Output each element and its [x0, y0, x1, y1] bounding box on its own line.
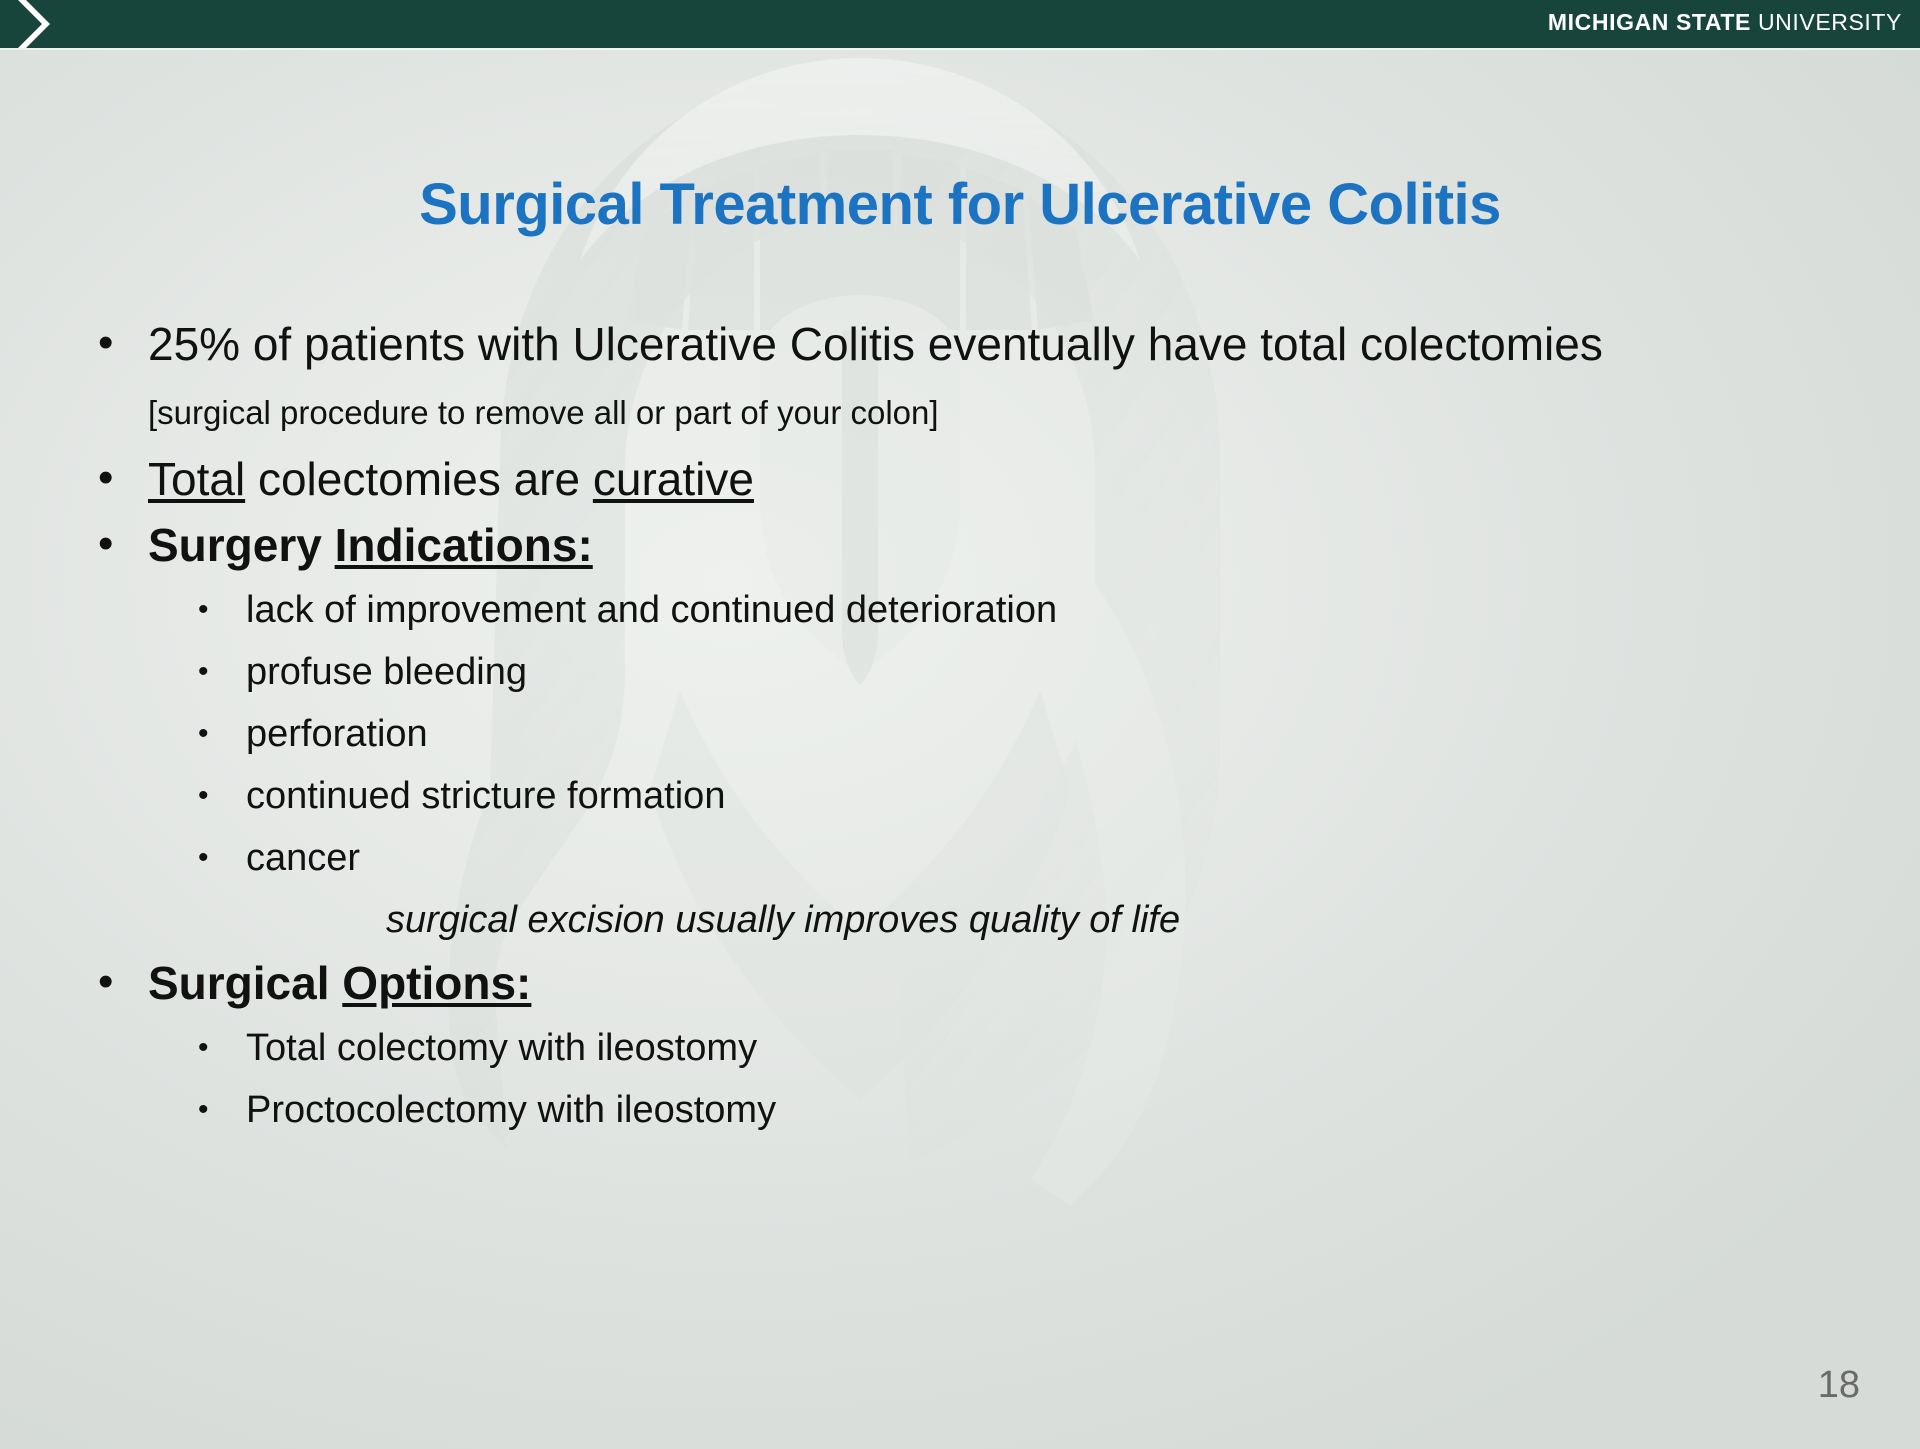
bullet-glyph-icon: • — [86, 951, 148, 1013]
bullet-text: 25% of patients with Ulcerative Colitis … — [148, 312, 1738, 445]
list-item: • lack of improvement and continued dete… — [182, 579, 1846, 641]
bullet-item-surgical-options: • Surgical Options: — [86, 951, 1846, 1015]
slide-canvas: MICHIGAN STATE UNIVERSITY Surgical Treat… — [0, 0, 1920, 1449]
bullet-text-underlined-curative: curative — [593, 453, 754, 505]
bullet-text: Surgery Indications: — [148, 513, 593, 577]
bullet-glyph-icon: • — [86, 312, 148, 374]
heading-surgical: Surgical — [148, 957, 342, 1009]
list-item: • perforation — [182, 703, 1846, 765]
italic-note: surgical excision usually improves quali… — [386, 889, 1846, 951]
bullet-text-aside: [surgical procedure to remove all or par… — [148, 394, 939, 431]
msu-wordmark-bold: MICHIGAN STATE — [1548, 9, 1751, 35]
list-item-label: Total colectomy with ileostomy — [246, 1017, 757, 1079]
list-item-label: continued stricture formation — [246, 765, 725, 827]
bullet-glyph-icon: • — [182, 641, 246, 703]
page-title: Surgical Treatment for Ulcerative Coliti… — [0, 172, 1920, 238]
heading-indications-underlined: Indications: — [335, 519, 593, 571]
bullet-text: Surgical Options: — [148, 951, 531, 1015]
bullet-item: • 25% of patients with Ulcerative Coliti… — [86, 312, 1846, 445]
list-item-label: profuse bleeding — [246, 641, 527, 703]
bullet-item: • Total colectomies are curative — [86, 447, 1846, 511]
list-item-label: lack of improvement and continued deteri… — [246, 579, 1057, 641]
msu-header-bar: MICHIGAN STATE UNIVERSITY — [0, 0, 1920, 48]
bullet-glyph-icon: • — [182, 1079, 246, 1141]
heading-surgery: Surgery — [148, 519, 335, 571]
bullet-glyph-icon: • — [182, 827, 246, 889]
bullet-glyph-icon: • — [182, 765, 246, 827]
page-number: 18 — [1818, 1363, 1860, 1407]
bullet-item-surgery-indications: • Surgery Indications: — [86, 513, 1846, 577]
list-item-label: cancer — [246, 827, 360, 889]
bullet-glyph-icon: • — [86, 513, 148, 575]
list-item: • Proctocolectomy with ileostomy — [182, 1079, 1846, 1141]
bullet-glyph-icon: • — [182, 703, 246, 765]
list-item-label: perforation — [246, 703, 428, 765]
slide-body: • 25% of patients with Ulcerative Coliti… — [86, 312, 1846, 1141]
bullet-text-main: 25% of patients with Ulcerative Colitis … — [148, 318, 1603, 370]
bullet-text: Total colectomies are curative — [148, 447, 754, 511]
bullet-text-middle: colectomies are — [245, 453, 593, 505]
list-item: • continued stricture formation — [182, 765, 1846, 827]
bullet-glyph-icon: • — [182, 579, 246, 641]
header-underline — [0, 48, 1920, 50]
list-item-label: Proctocolectomy with ileostomy — [246, 1079, 776, 1141]
bullet-glyph-icon: • — [182, 1017, 246, 1079]
heading-options-underlined: Options: — [342, 957, 531, 1009]
list-item: • Total colectomy with ileostomy — [182, 1017, 1846, 1079]
chevron-right-icon — [8, 0, 64, 48]
bullet-glyph-icon: • — [86, 447, 148, 509]
msu-wordmark-light: UNIVERSITY — [1758, 9, 1902, 35]
msu-wordmark: MICHIGAN STATE UNIVERSITY — [1548, 9, 1902, 35]
list-item: • profuse bleeding — [182, 641, 1846, 703]
list-item: • cancer — [182, 827, 1846, 889]
bullet-text-underlined-total: Total — [148, 453, 245, 505]
